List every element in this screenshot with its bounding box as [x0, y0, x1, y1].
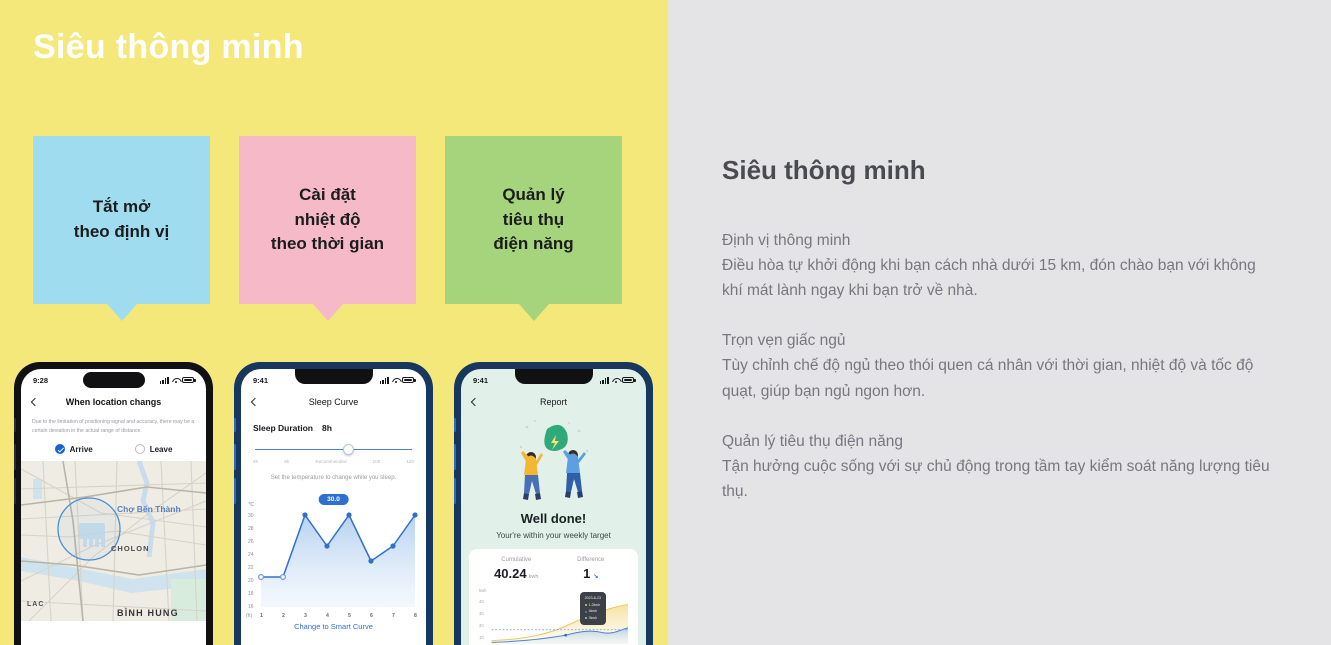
- status-bar: 9:41: [461, 369, 646, 391]
- paragraph-body: Tùy chỉnh chế độ ngủ theo thói quen cá n…: [722, 353, 1271, 403]
- wifi-icon: [392, 377, 400, 384]
- paragraph-body: Điều hòa tự khởi động khi bạn cách nhà d…: [722, 253, 1271, 303]
- y-tick: 30: [248, 513, 254, 519]
- map-view[interactable]: Chợ Bến Thành CHOLON BÌNH HUNG LAC: [21, 461, 206, 621]
- card-line: điện năng: [493, 232, 573, 257]
- right-description-panel: Siêu thông minh Định vị thông minh Điều …: [668, 0, 1331, 645]
- feature-card-temperature: Cài đặt nhiệt độ theo thời gian: [239, 136, 416, 304]
- status-bar: 9:41: [241, 369, 426, 391]
- phone-side-button: [454, 418, 456, 432]
- battery-icon: [182, 377, 194, 384]
- nav-bar: Sleep Curve: [241, 391, 426, 413]
- description-paragraph-1: Định vị thông minh Điều hòa tự khởi động…: [722, 228, 1271, 303]
- card-line: Tắt mở: [93, 195, 150, 220]
- card-line: Quản lý: [502, 183, 564, 208]
- radio-option-arrive[interactable]: Arrive: [55, 444, 93, 454]
- tooltip-row: 4kwh: [589, 608, 597, 615]
- nav-title: Sleep Curve: [309, 397, 359, 407]
- notch: [295, 369, 373, 384]
- status-icons: [600, 377, 634, 384]
- feature-card-location: Tắt mở theo định vị: [33, 136, 210, 304]
- report-y-tick: 10: [479, 635, 484, 640]
- celebration-illustration: [461, 413, 646, 509]
- trend-down-icon: ↘: [593, 574, 598, 580]
- back-chevron-icon[interactable]: [31, 398, 39, 406]
- report-subline: Your're within your weekly target: [461, 531, 646, 540]
- metrics-row: Cumulative 40.24kwh Difference 1↘: [479, 557, 628, 581]
- card-line: theo định vị: [74, 220, 169, 245]
- y-tick: 16: [248, 604, 254, 610]
- paragraph-heading: Định vị thông minh: [722, 228, 1271, 253]
- nav-bar: When location changs: [21, 391, 206, 413]
- slider-tick: Recommended: [315, 459, 346, 464]
- energy-usage-chart[interactable]: kwh 40 30 20 10 0 2023-8-23 1.2kwh 4kwh …: [479, 590, 628, 645]
- y-tick: 22: [248, 565, 254, 571]
- phone-volume-down-button: [234, 478, 236, 504]
- metric-label: Cumulative: [479, 557, 554, 563]
- x-tick: 6: [370, 613, 373, 619]
- description-paragraph-2: Trọn vẹn giấc ngủ Tùy chỉnh chế độ ngủ t…: [722, 328, 1271, 403]
- sleep-hint-text: Set the temperature to change while you …: [241, 464, 426, 485]
- radio-option-leave[interactable]: Leave: [135, 444, 173, 454]
- phone-screen-report: 9:41 Report: [461, 369, 646, 645]
- x-tick: 7: [392, 613, 395, 619]
- phone-report: 9:41 Report: [454, 362, 653, 645]
- status-time: 9:41: [473, 376, 488, 385]
- report-headline: Well done!: [461, 511, 646, 526]
- sleep-duration-row: Sleep Duration 8h: [253, 423, 414, 433]
- slider-tick: 4h: [253, 459, 258, 464]
- x-tick: 5: [348, 613, 351, 619]
- tooltip-row: 3kwh: [589, 615, 597, 622]
- slider-tick: 10h: [373, 459, 381, 464]
- slider-track: [255, 449, 412, 450]
- feature-card-energy: Quản lý tiêu thụ điện năng: [445, 136, 622, 304]
- metric-value: 1: [583, 566, 590, 581]
- slider-knob[interactable]: [343, 444, 354, 455]
- x-tick: 3: [304, 613, 307, 619]
- dynamic-island: [83, 372, 145, 388]
- description-title: Siêu thông minh: [722, 155, 1271, 186]
- y-tick: 20: [248, 578, 254, 584]
- signal-icon: [600, 377, 609, 384]
- wifi-icon: [172, 377, 180, 384]
- radio-label: Leave: [150, 445, 173, 454]
- card-line: theo thời gian: [271, 232, 384, 257]
- slider-tick: 6h: [284, 459, 289, 464]
- chart-x-unit: (h): [246, 613, 252, 619]
- description-paragraph-3: Quản lý tiêu thụ điện năng Tận hưởng cuộ…: [722, 429, 1271, 504]
- report-y-tick: 40: [479, 599, 484, 604]
- x-tick: 1: [260, 613, 263, 619]
- signal-icon: [380, 377, 389, 384]
- card-line: Cài đặt: [299, 183, 356, 208]
- nav-title: When location changs: [66, 397, 162, 407]
- chart-tooltip: 2023-8-23 1.2kwh 4kwh 3kwh: [580, 592, 606, 625]
- metric-value: 40.24: [494, 566, 527, 581]
- feature-cards: Tắt mở theo định vị Cài đặt nhiệt độ the…: [33, 136, 622, 304]
- paragraph-heading: Quản lý tiêu thụ điện năng: [722, 429, 1271, 454]
- y-tick: 26: [248, 539, 254, 545]
- phone-volume-up-button: [14, 444, 16, 470]
- radio-label: Arrive: [70, 445, 93, 454]
- sleep-duration-section: Sleep Duration 8h 4h 6h Recommended 10h: [241, 413, 426, 464]
- status-time: 9:41: [253, 376, 268, 385]
- y-tick: 24: [248, 552, 254, 558]
- paragraph-heading: Trọn vẹn giấc ngủ: [722, 328, 1271, 353]
- metric-label: Difference: [554, 557, 629, 563]
- temperature-badge[interactable]: 30.0: [318, 494, 349, 505]
- metric-unit: kwh: [529, 574, 539, 580]
- back-chevron-icon[interactable]: [251, 398, 259, 406]
- status-icons: [160, 377, 194, 384]
- metric-cumulative: Cumulative 40.24kwh: [479, 557, 554, 581]
- phone-volume-down-button: [14, 478, 16, 504]
- phone-side-button: [14, 418, 16, 432]
- card-line: nhiệt độ: [294, 208, 360, 233]
- phone-sleep-curve: 9:41 Sleep Curve Sle: [234, 362, 433, 645]
- map-graphics: [21, 461, 206, 621]
- status-icons: [380, 377, 414, 384]
- x-tick: 2: [282, 613, 285, 619]
- nav-bar: Report: [461, 391, 646, 413]
- phone-volume-up-button: [454, 444, 456, 470]
- left-visual-panel: Siêu thông minh Tắt mở theo định vị Cài …: [0, 0, 668, 645]
- phone-volume-up-button: [234, 444, 236, 470]
- y-tick: 28: [248, 526, 254, 532]
- signal-icon: [160, 377, 169, 384]
- phone-mockups: 9:28 When location changs Due to the lim…: [14, 362, 653, 645]
- energy-summary-card: Cumulative 40.24kwh Difference 1↘: [469, 549, 638, 645]
- sleep-duration-value: 8h: [322, 423, 332, 433]
- status-bar: 9:28: [21, 369, 206, 391]
- card-line: tiêu thụ: [503, 208, 564, 233]
- phone-screen-sleep: 9:41 Sleep Curve Sle: [241, 369, 426, 645]
- wifi-icon: [612, 377, 620, 384]
- report-y-unit: kwh: [479, 588, 486, 593]
- location-disclaimer: Due to the limitation of positioning sig…: [21, 413, 206, 438]
- phone-side-button: [234, 418, 236, 432]
- metric-difference: Difference 1↘: [554, 557, 629, 581]
- tooltip-title: 2023-8-23: [585, 595, 601, 602]
- notch: [515, 369, 593, 384]
- slide-root: Siêu thông minh Tắt mở theo định vị Cài …: [0, 0, 1331, 645]
- phone-volume-down-button: [454, 478, 456, 504]
- paragraph-body: Tận hưởng cuộc sống với sự chủ động tron…: [722, 454, 1271, 504]
- back-chevron-icon[interactable]: [471, 398, 479, 406]
- status-time: 9:28: [33, 376, 48, 385]
- report-y-tick: 30: [479, 611, 484, 616]
- report-y-tick: 20: [479, 623, 484, 628]
- battery-icon: [622, 377, 634, 384]
- sleep-chart-graphics: [241, 485, 426, 631]
- sleep-temperature-chart[interactable]: 30.0 ℃ (h) 30 28 26 24 22 20 18 16 1 2 3: [241, 485, 426, 631]
- sleep-duration-slider[interactable]: [255, 444, 412, 456]
- tooltip-row: 1.2kwh: [589, 602, 600, 609]
- illustration-graphics: [461, 413, 646, 509]
- chart-y-unit: ℃: [248, 502, 254, 508]
- phone-screen-location: 9:28 When location changs Due to the lim…: [21, 369, 206, 645]
- arrive-leave-options: Arrive Leave: [21, 438, 206, 461]
- phone-location: 9:28 When location changs Due to the lim…: [14, 362, 213, 645]
- slide-title: Siêu thông minh: [33, 28, 304, 67]
- x-tick: 4: [326, 613, 329, 619]
- sleep-duration-label: Sleep Duration: [253, 423, 313, 433]
- x-tick: 8: [414, 613, 417, 619]
- radio-unchecked-icon[interactable]: [135, 444, 145, 454]
- slider-tick: 12h: [406, 459, 414, 464]
- nav-title: Report: [540, 397, 567, 407]
- battery-icon: [402, 377, 414, 384]
- y-tick: 18: [248, 591, 254, 597]
- radio-checked-icon[interactable]: [55, 444, 65, 454]
- change-to-smart-curve-link[interactable]: Change to Smart Curve: [241, 622, 426, 631]
